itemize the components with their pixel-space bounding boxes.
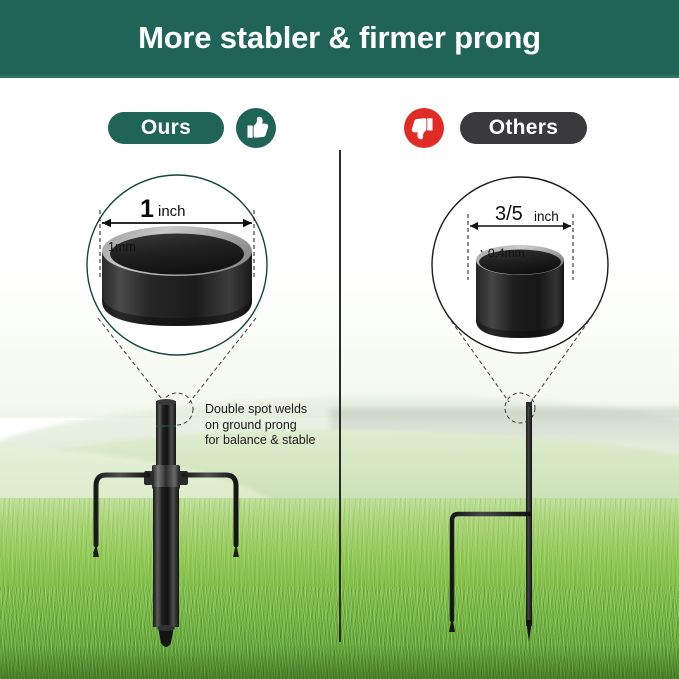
right-diameter-value: 3/5 (495, 203, 523, 226)
thumbs-down-icon (404, 108, 444, 148)
left-diameter-unit: inch (158, 203, 186, 220)
header-banner: More stabler & firmer prong (0, 0, 679, 78)
others-prong-stake (430, 398, 630, 653)
others-badge: Others (460, 112, 587, 144)
ours-prong-stake (78, 395, 278, 660)
left-dimension-label: 1 inch (96, 195, 266, 235)
left-diameter-value: 1 (140, 195, 154, 224)
ours-badge-label: Ours (141, 116, 191, 140)
thumbs-up-icon (236, 108, 276, 148)
page-title: More stabler & firmer prong (0, 0, 679, 75)
right-diameter-unit: inch (534, 209, 559, 224)
left-wall-thickness-label: 1mm (108, 238, 136, 256)
others-badge-label: Others (489, 116, 559, 140)
right-wall-thickness-label: 0.4mm (488, 244, 525, 262)
right-dimension-label: 3/5 inch (468, 203, 618, 237)
ours-badge: Ours (108, 112, 224, 144)
vertical-divider (339, 150, 341, 642)
